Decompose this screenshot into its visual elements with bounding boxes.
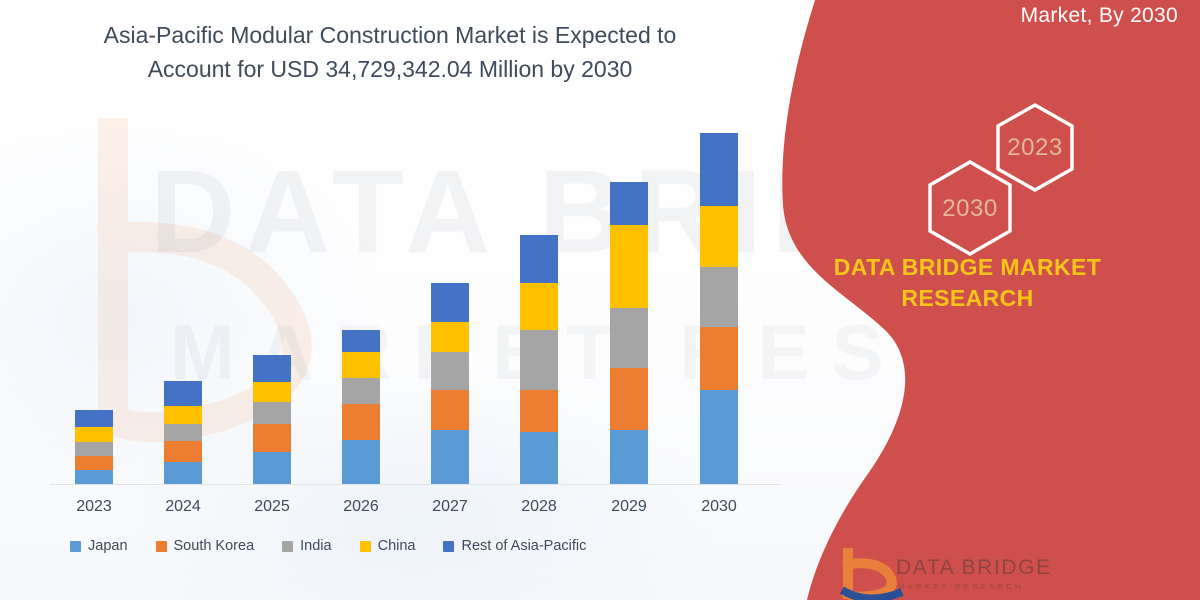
legend-swatch-icon bbox=[70, 541, 81, 552]
panel-title: Market, By 2030 bbox=[1021, 4, 1178, 28]
bar-segment-2026-rest-of-asia-pacific[interactable] bbox=[342, 330, 380, 352]
bar-segment-2024-south-korea[interactable] bbox=[164, 441, 202, 462]
bar-2026[interactable] bbox=[342, 330, 380, 484]
legend-item-india[interactable]: India bbox=[282, 538, 331, 554]
bar-segment-2023-china[interactable] bbox=[75, 427, 113, 442]
bar-segment-2024-china[interactable] bbox=[164, 406, 202, 424]
x-axis-label-2026: 2026 bbox=[316, 498, 406, 516]
bar-segment-2024-india[interactable] bbox=[164, 424, 202, 441]
legend-item-japan[interactable]: Japan bbox=[70, 538, 128, 554]
x-axis-label-2023: 2023 bbox=[49, 498, 139, 516]
legend-label: South Korea bbox=[174, 538, 255, 554]
legend-label: Japan bbox=[88, 538, 128, 554]
bar-segment-2027-india[interactable] bbox=[431, 352, 469, 390]
bar-segment-2025-rest-of-asia-pacific[interactable] bbox=[253, 355, 291, 382]
bar-segment-2023-south-korea[interactable] bbox=[75, 456, 113, 470]
bar-2023[interactable] bbox=[75, 410, 113, 484]
bar-segment-2026-japan[interactable] bbox=[342, 440, 380, 484]
bar-2029[interactable] bbox=[610, 182, 648, 484]
bar-segment-2023-india[interactable] bbox=[75, 442, 113, 456]
logo-tagline: MARKET RESEARCH bbox=[898, 582, 1024, 591]
bar-2027[interactable] bbox=[431, 283, 469, 484]
hexagon-2023-label: 2023 bbox=[991, 134, 1079, 162]
legend-swatch-icon bbox=[443, 541, 454, 552]
bar-2025[interactable] bbox=[253, 355, 291, 484]
bar-2030[interactable] bbox=[700, 133, 738, 484]
legend-swatch-icon bbox=[360, 541, 371, 552]
hexagon-2030-label: 2030 bbox=[923, 195, 1017, 223]
bar-segment-2029-japan[interactable] bbox=[610, 430, 648, 484]
brand-name: DATA BRIDGE MARKET RESEARCH bbox=[735, 252, 1200, 314]
bar-segment-2027-rest-of-asia-pacific[interactable] bbox=[431, 283, 469, 322]
bar-segment-2029-china[interactable] bbox=[610, 225, 648, 308]
x-axis-label-2028: 2028 bbox=[494, 498, 584, 516]
bar-segment-2030-rest-of-asia-pacific[interactable] bbox=[700, 133, 738, 206]
chart-legend: JapanSouth KoreaIndiaChinaRest of Asia-P… bbox=[70, 538, 586, 554]
bar-segment-2028-china[interactable] bbox=[520, 283, 558, 330]
bar-segment-2030-japan[interactable] bbox=[700, 390, 738, 484]
bar-segment-2028-south-korea[interactable] bbox=[520, 390, 558, 432]
x-axis-label-2029: 2029 bbox=[584, 498, 674, 516]
bar-segment-2023-rest-of-asia-pacific[interactable] bbox=[75, 410, 113, 427]
bar-segment-2030-india[interactable] bbox=[700, 267, 738, 327]
brand-name-line-1: DATA BRIDGE MARKET bbox=[834, 254, 1101, 280]
legend-item-south-korea[interactable]: South Korea bbox=[156, 538, 255, 554]
bar-segment-2026-india[interactable] bbox=[342, 378, 380, 404]
bar-segment-2027-china[interactable] bbox=[431, 322, 469, 352]
footer-logo: DATA BRIDGE MARKET RESEARCH bbox=[840, 548, 1070, 600]
legend-label: China bbox=[378, 538, 416, 554]
bar-segment-2030-south-korea[interactable] bbox=[700, 327, 738, 390]
bar-segment-2028-rest-of-asia-pacific[interactable] bbox=[520, 235, 558, 283]
legend-item-rest-of-asia-pacific[interactable]: Rest of Asia-Pacific bbox=[443, 538, 586, 554]
bar-segment-2028-india[interactable] bbox=[520, 330, 558, 390]
logo-wordmark: DATA BRIDGE bbox=[896, 556, 1052, 580]
brand-name-line-2: RESEARCH bbox=[735, 283, 1200, 314]
bar-segment-2027-south-korea[interactable] bbox=[431, 390, 469, 430]
legend-swatch-icon bbox=[282, 541, 293, 552]
legend-swatch-icon bbox=[156, 541, 167, 552]
x-axis-label-2025: 2025 bbox=[227, 498, 317, 516]
x-axis-label-2024: 2024 bbox=[138, 498, 228, 516]
x-axis-line bbox=[50, 484, 780, 485]
legend-item-china[interactable]: China bbox=[360, 538, 416, 554]
bar-segment-2023-japan[interactable] bbox=[75, 470, 113, 484]
legend-label: Rest of Asia-Pacific bbox=[461, 538, 586, 554]
bar-segment-2024-rest-of-asia-pacific[interactable] bbox=[164, 381, 202, 406]
bar-segment-2029-south-korea[interactable] bbox=[610, 368, 648, 430]
infographic-canvas: DATA BRIDGE MARKET RESEARCH Asia-Pacific… bbox=[0, 0, 1200, 600]
bar-segment-2024-japan[interactable] bbox=[164, 462, 202, 484]
bar-segment-2025-japan[interactable] bbox=[253, 452, 291, 484]
bar-segment-2026-south-korea[interactable] bbox=[342, 404, 380, 440]
bar-segment-2026-china[interactable] bbox=[342, 352, 380, 378]
bar-segment-2028-japan[interactable] bbox=[520, 432, 558, 484]
bar-segment-2025-china[interactable] bbox=[253, 382, 291, 402]
bar-2028[interactable] bbox=[520, 235, 558, 484]
brand-panel: Market, By 2030 2030 2023 DATA BRIDGE MA… bbox=[735, 0, 1200, 600]
stacked-bar-chart: 20232024202520262027202820292030 bbox=[0, 0, 800, 600]
bar-segment-2027-japan[interactable] bbox=[431, 430, 469, 484]
bar-segment-2025-india[interactable] bbox=[253, 402, 291, 424]
bar-2024[interactable] bbox=[164, 381, 202, 484]
bar-segment-2025-south-korea[interactable] bbox=[253, 424, 291, 452]
x-axis-label-2027: 2027 bbox=[405, 498, 495, 516]
bar-segment-2030-china[interactable] bbox=[700, 206, 738, 267]
bar-segment-2029-rest-of-asia-pacific[interactable] bbox=[610, 182, 648, 225]
bar-segment-2029-india[interactable] bbox=[610, 308, 648, 368]
legend-label: India bbox=[300, 538, 331, 554]
